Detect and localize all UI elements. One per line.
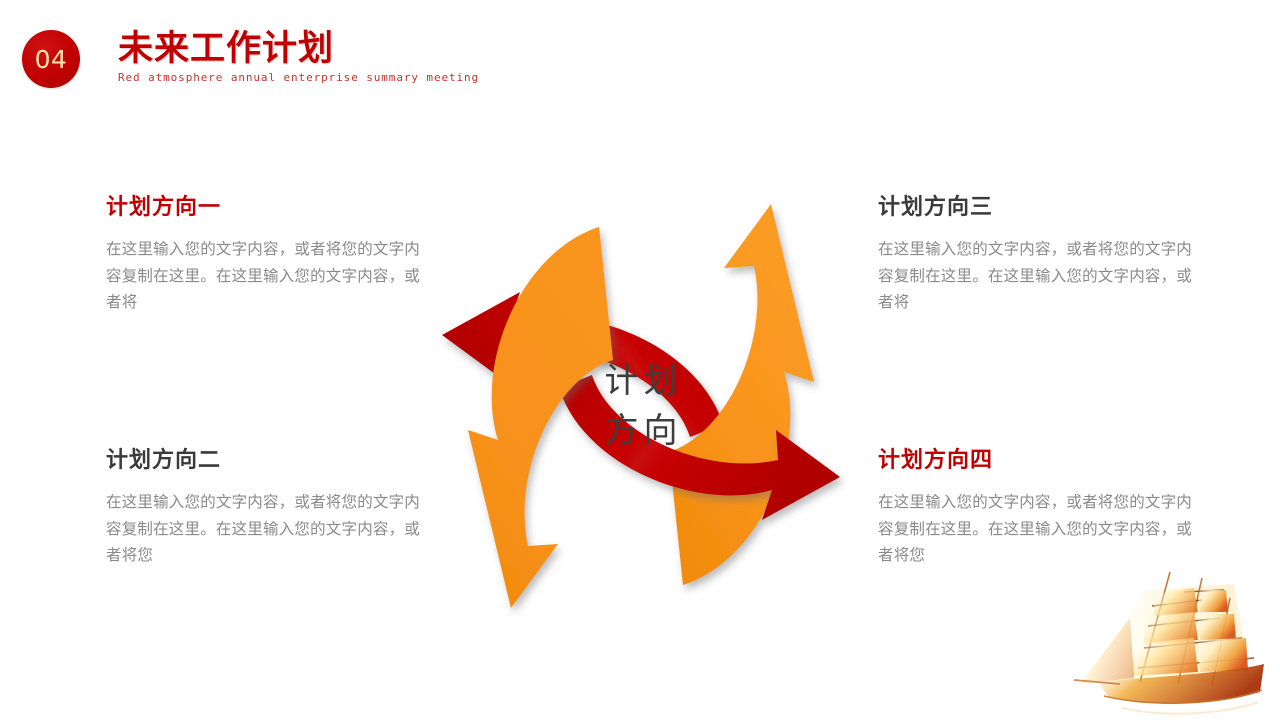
plan-direction-title-4: 计划方向四: [878, 447, 1198, 475]
cycle-diagram-svg: [436, 196, 846, 616]
page-title: 未来工作计划: [118, 28, 479, 70]
plan-direction-block-1: 计划方向一 在这里输入您的文字内容，或者将您的文字内容复制在这里。在这里输入您的…: [106, 194, 426, 316]
sailing-ship-svg: [1074, 560, 1274, 720]
plan-direction-block-4: 计划方向四 在这里输入您的文字内容，或者将您的文字内容复制在这里。在这里输入您的…: [878, 447, 1198, 569]
plan-direction-title-1: 计划方向一: [106, 194, 426, 222]
plan-direction-body-4: 在这里输入您的文字内容，或者将您的文字内容复制在这里。在这里输入您的文字内容，或…: [878, 489, 1198, 569]
plan-direction-block-2: 计划方向二 在这里输入您的文字内容，或者将您的文字内容复制在这里。在这里输入您的…: [106, 447, 426, 569]
title-block: 未来工作计划 Red atmosphere annual enterprise …: [118, 28, 479, 85]
plan-direction-title-2: 计划方向二: [106, 447, 426, 475]
plan-direction-title-3: 计划方向三: [878, 194, 1198, 222]
plan-direction-body-2: 在这里输入您的文字内容，或者将您的文字内容复制在这里。在这里输入您的文字内容，或…: [106, 489, 426, 569]
plan-direction-body-1: 在这里输入您的文字内容，或者将您的文字内容复制在这里。在这里输入您的文字内容，或…: [106, 236, 426, 316]
section-number-label: 04: [22, 30, 80, 88]
slide-canvas: 04 未来工作计划 Red atmosphere annual enterpri…: [0, 0, 1280, 720]
page-subtitle: Red atmosphere annual enterprise summary…: [118, 71, 479, 85]
plan-direction-body-3: 在这里输入您的文字内容，或者将您的文字内容复制在这里。在这里输入您的文字内容，或…: [878, 236, 1198, 316]
slide-header: 04 未来工作计划 Red atmosphere annual enterpri…: [0, 0, 1280, 110]
plan-direction-block-3: 计划方向三 在这里输入您的文字内容，或者将您的文字内容复制在这里。在这里输入您的…: [878, 194, 1198, 316]
sailing-ship-illustration: [1074, 560, 1274, 720]
cycle-diagram: 计划 方向: [436, 196, 846, 616]
section-number-badge: 04: [22, 30, 80, 88]
